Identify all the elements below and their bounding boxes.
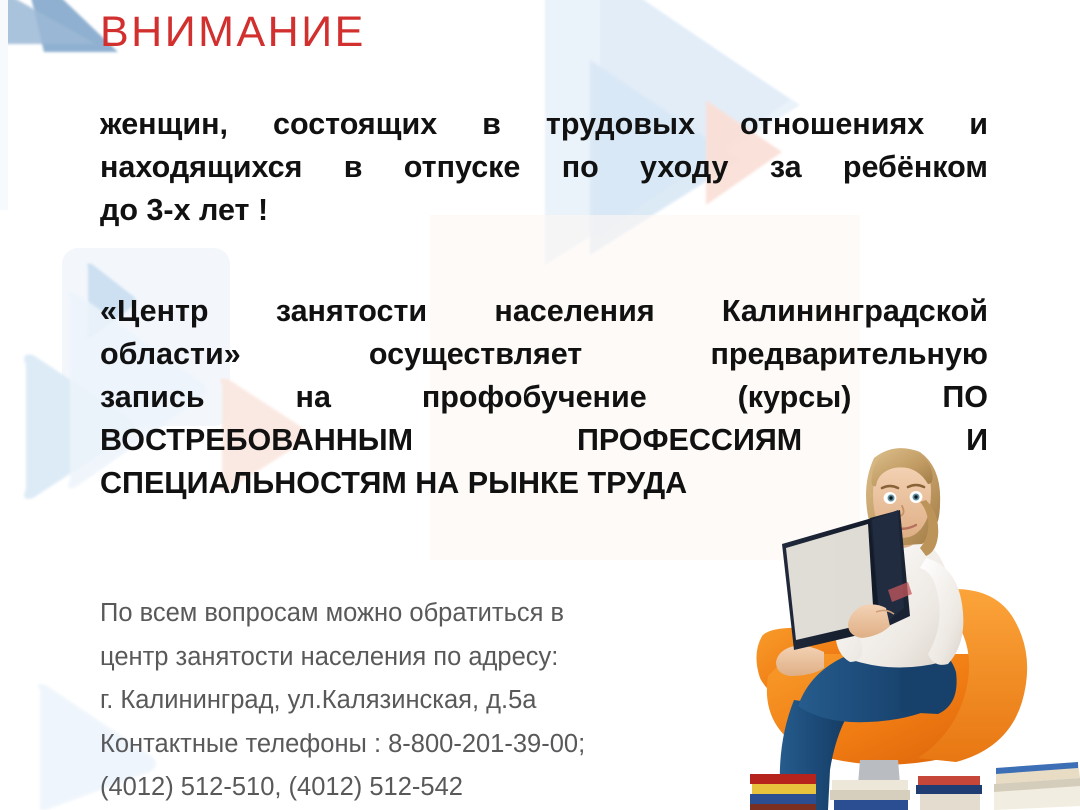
paragraph-line: до 3-х лет ! [100,189,988,232]
word: уходу [640,146,728,189]
pupil-right [914,495,917,498]
book-stack-center [830,780,910,810]
word: отпуске [404,146,521,189]
stacked-book [830,790,910,800]
word: «Центр [100,290,209,333]
word: ПО [942,376,988,419]
pupil-left [889,496,892,499]
contact-info-block: По всем вопросам можно обратиться в цент… [100,592,740,810]
paragraph-line: находящихся в отпуске по уходу за ребёнк… [100,146,988,189]
stacked-book [832,780,908,790]
word: находящихся [100,146,302,189]
word: женщин, [100,103,228,146]
book-stack-right-middle [916,776,982,810]
illustration-woman-reading [750,440,1080,810]
woman-reading-svg [750,440,1080,810]
word: (курсы) [738,376,852,419]
stacked-book [750,774,816,784]
word: отношениях [740,103,924,146]
paragraph-target-audience: женщин, состоящих в трудовых отношениях … [100,103,988,232]
contact-line-intro: По всем вопросам можно обратиться в [100,592,740,636]
word: профобучение [422,376,647,419]
contact-phone-line-1: Контактные телефоны : 8-800-201-39-00; [100,723,740,767]
paragraph-line: женщин, состоящих в трудовых отношениях … [100,103,988,146]
word: в [482,103,501,146]
poster-root: ВНИМАНИЕ женщин, состоящих в трудовых от… [0,0,1080,810]
paragraph-line: области» осуществляет предварительную [100,333,988,376]
word: состоящих [273,103,437,146]
word: трудовых [546,103,695,146]
contact-address: г. Калининград, ул.Калязинская, д.5а [100,679,740,723]
book-stack-far-right [994,762,1080,810]
paragraph-line: запись на профобучение (курсы) ПО [100,376,988,419]
word: занятости [276,290,427,333]
word: за [770,146,802,189]
word: области» [100,333,241,376]
word: на [296,376,331,419]
paragraph-line: «Центр занятости населения Калининградск… [100,290,988,333]
word: и [969,103,988,146]
stacked-book [920,794,980,810]
stacked-book [752,784,816,794]
stacked-book [918,776,980,785]
stacked-book [750,804,816,810]
page-title: ВНИМАНИЕ [100,8,366,57]
word: по [562,146,599,189]
word: ВОСТРЕБОВАННЫМ [100,419,413,462]
word: в [344,146,363,189]
contact-line-intro-2: центр занятости населения по адресу: [100,636,740,680]
stacked-book [916,785,982,794]
word: Калининградской [722,290,988,333]
book-stack-left [750,774,816,810]
stacked-book [750,794,816,804]
word: запись [100,376,205,419]
word: осуществляет [369,333,582,376]
contact-phone-line-2: (4012) 512-510, (4012) 512-542 [100,766,740,810]
word: населения [494,290,654,333]
word: предварительную [710,333,988,376]
stacked-book [834,800,908,810]
word: ребёнком [843,146,988,189]
